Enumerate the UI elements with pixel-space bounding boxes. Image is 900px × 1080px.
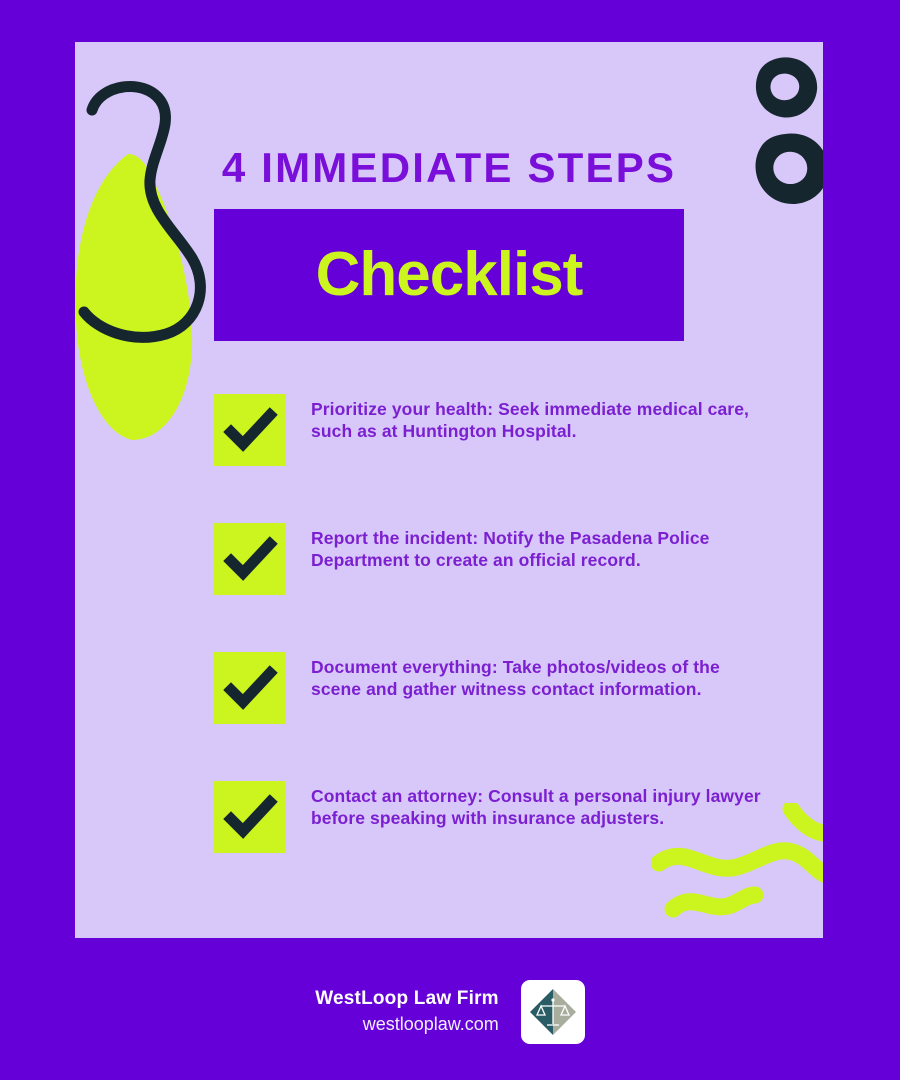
firm-name: WestLoop Law Firm xyxy=(315,987,499,1012)
list-item[interactable]: Document everything: Take photos/videos … xyxy=(214,652,774,724)
checkbox-checked[interactable] xyxy=(214,523,286,595)
checkbox-checked[interactable] xyxy=(214,781,286,853)
banner-title: Checklist xyxy=(316,244,583,306)
checkmark-icon xyxy=(214,652,286,724)
checkmark-icon xyxy=(214,781,286,853)
lime-blob-shape-icon xyxy=(75,152,200,447)
dark-s-curve-icon xyxy=(75,72,220,367)
website-url[interactable]: westlooplaw.com xyxy=(315,1012,499,1037)
checklist-card: 4 IMMEDIATE STEPS Checklist Prioritize y… xyxy=(75,42,823,938)
checkmark-icon xyxy=(214,394,286,466)
list-item-label: Contact an attorney: Consult a personal … xyxy=(311,785,774,830)
footer-text-block: WestLoop Law Firm westlooplaw.com xyxy=(315,987,499,1037)
dark-ring-pair-icon xyxy=(743,52,823,217)
list-item-label: Report the incident: Notify the Pasadena… xyxy=(311,527,774,572)
list-item-label: Document everything: Take photos/videos … xyxy=(311,656,774,701)
list-item-label: Prioritize your health: Seek immediate m… xyxy=(311,398,774,443)
footer-branding: WestLoop Law Firm westlooplaw.com xyxy=(0,980,900,1044)
checklist-banner: Checklist xyxy=(214,209,684,341)
list-item[interactable]: Report the incident: Notify the Pasadena… xyxy=(214,523,774,595)
scales-of-justice-diamond-icon xyxy=(527,986,579,1038)
checklist-items: Prioritize your health: Seek immediate m… xyxy=(214,394,774,853)
list-item[interactable]: Contact an attorney: Consult a personal … xyxy=(214,781,774,853)
checkbox-checked[interactable] xyxy=(214,394,286,466)
checkbox-checked[interactable] xyxy=(214,652,286,724)
checkmark-icon xyxy=(214,523,286,595)
page-title: 4 IMMEDIATE STEPS xyxy=(75,147,823,189)
firm-logo xyxy=(521,980,585,1044)
list-item[interactable]: Prioritize your health: Seek immediate m… xyxy=(214,394,774,466)
